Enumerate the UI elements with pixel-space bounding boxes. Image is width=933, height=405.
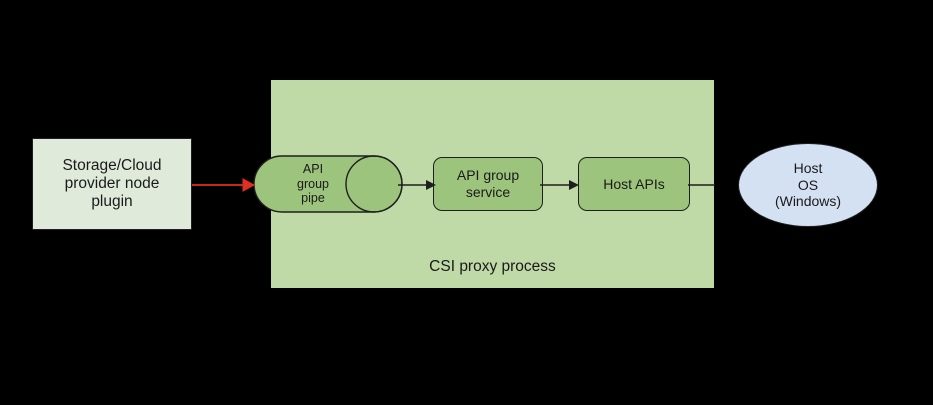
host-apis-box[interactable] [578,157,690,211]
api-group-pipe-shape[interactable] [253,155,403,213]
host-os-ellipse[interactable] [738,143,878,227]
diagram-canvas: Storage/Cloud provider node plugin CSI p… [0,0,933,405]
cylinder-icon [253,155,403,213]
node-plugin-box[interactable] [32,138,192,230]
arrow-red-icon [190,169,260,201]
api-group-service-box[interactable] [433,157,543,211]
edge-plugin-to-pipe [190,169,260,201]
